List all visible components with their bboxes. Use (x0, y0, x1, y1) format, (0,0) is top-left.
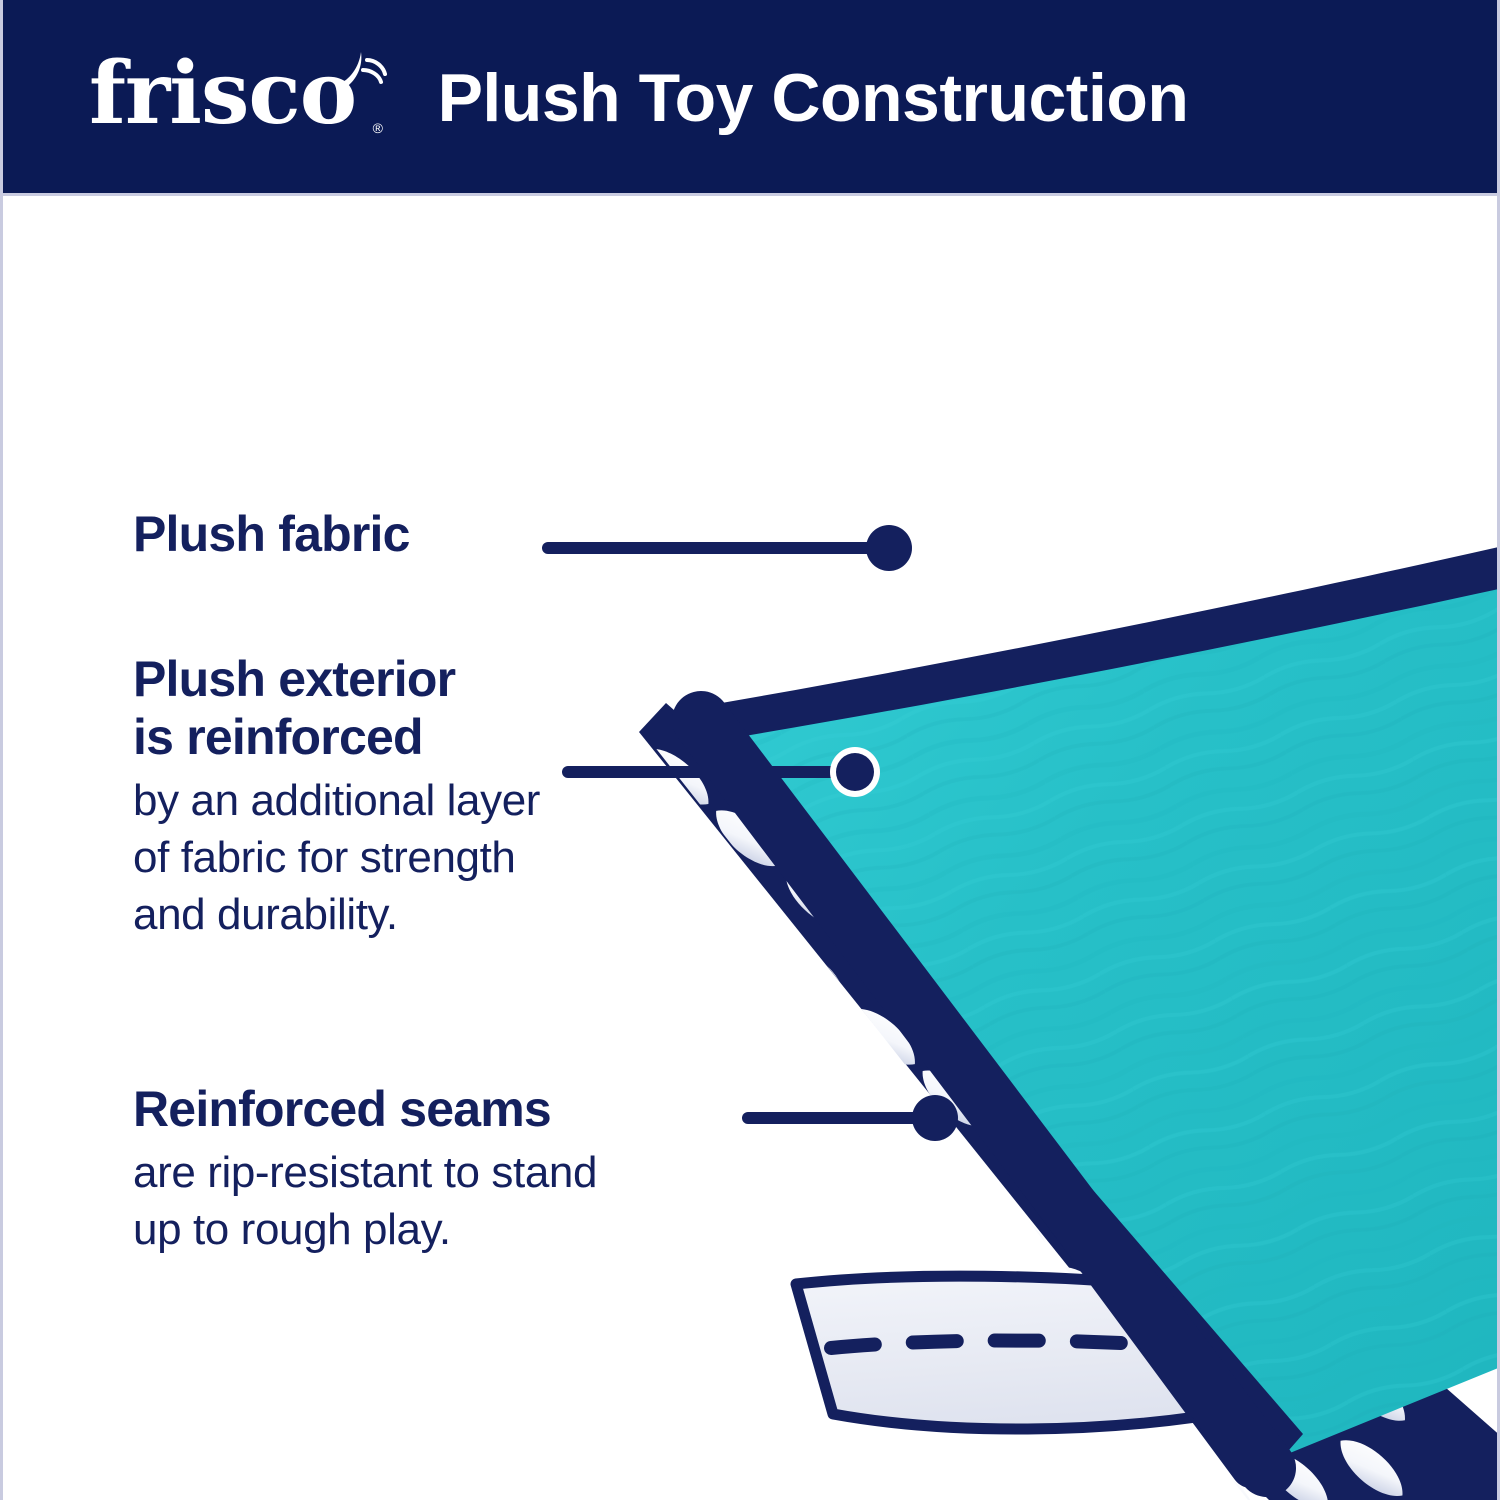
callout-plush-exterior: Plush exterior is reinforced by an addit… (133, 650, 723, 944)
frisco-logo: frisco ® (89, 38, 389, 150)
header-bar: frisco ® Plush Toy Construction (3, 0, 1500, 196)
callout-heading: Plush exterior is reinforced (133, 650, 723, 766)
callout-body: are rip-resistant to stand up to rough p… (133, 1144, 793, 1258)
callout-plush-fabric: Plush fabric (133, 505, 563, 563)
infographic-page: frisco ® Plush Toy Construction (0, 0, 1500, 1500)
callout-heading: Reinforced seams (133, 1080, 793, 1138)
callout-heading: Plush fabric (133, 505, 563, 563)
registered-trademark-icon: ® (373, 120, 383, 136)
callout-body: by an additional layer of fabric for str… (133, 772, 723, 944)
frisco-swash-icon (333, 44, 393, 104)
callout-reinforced-seams: Reinforced seams are rip-resistant to st… (133, 1080, 793, 1258)
leader-plush-fabric (548, 525, 912, 571)
